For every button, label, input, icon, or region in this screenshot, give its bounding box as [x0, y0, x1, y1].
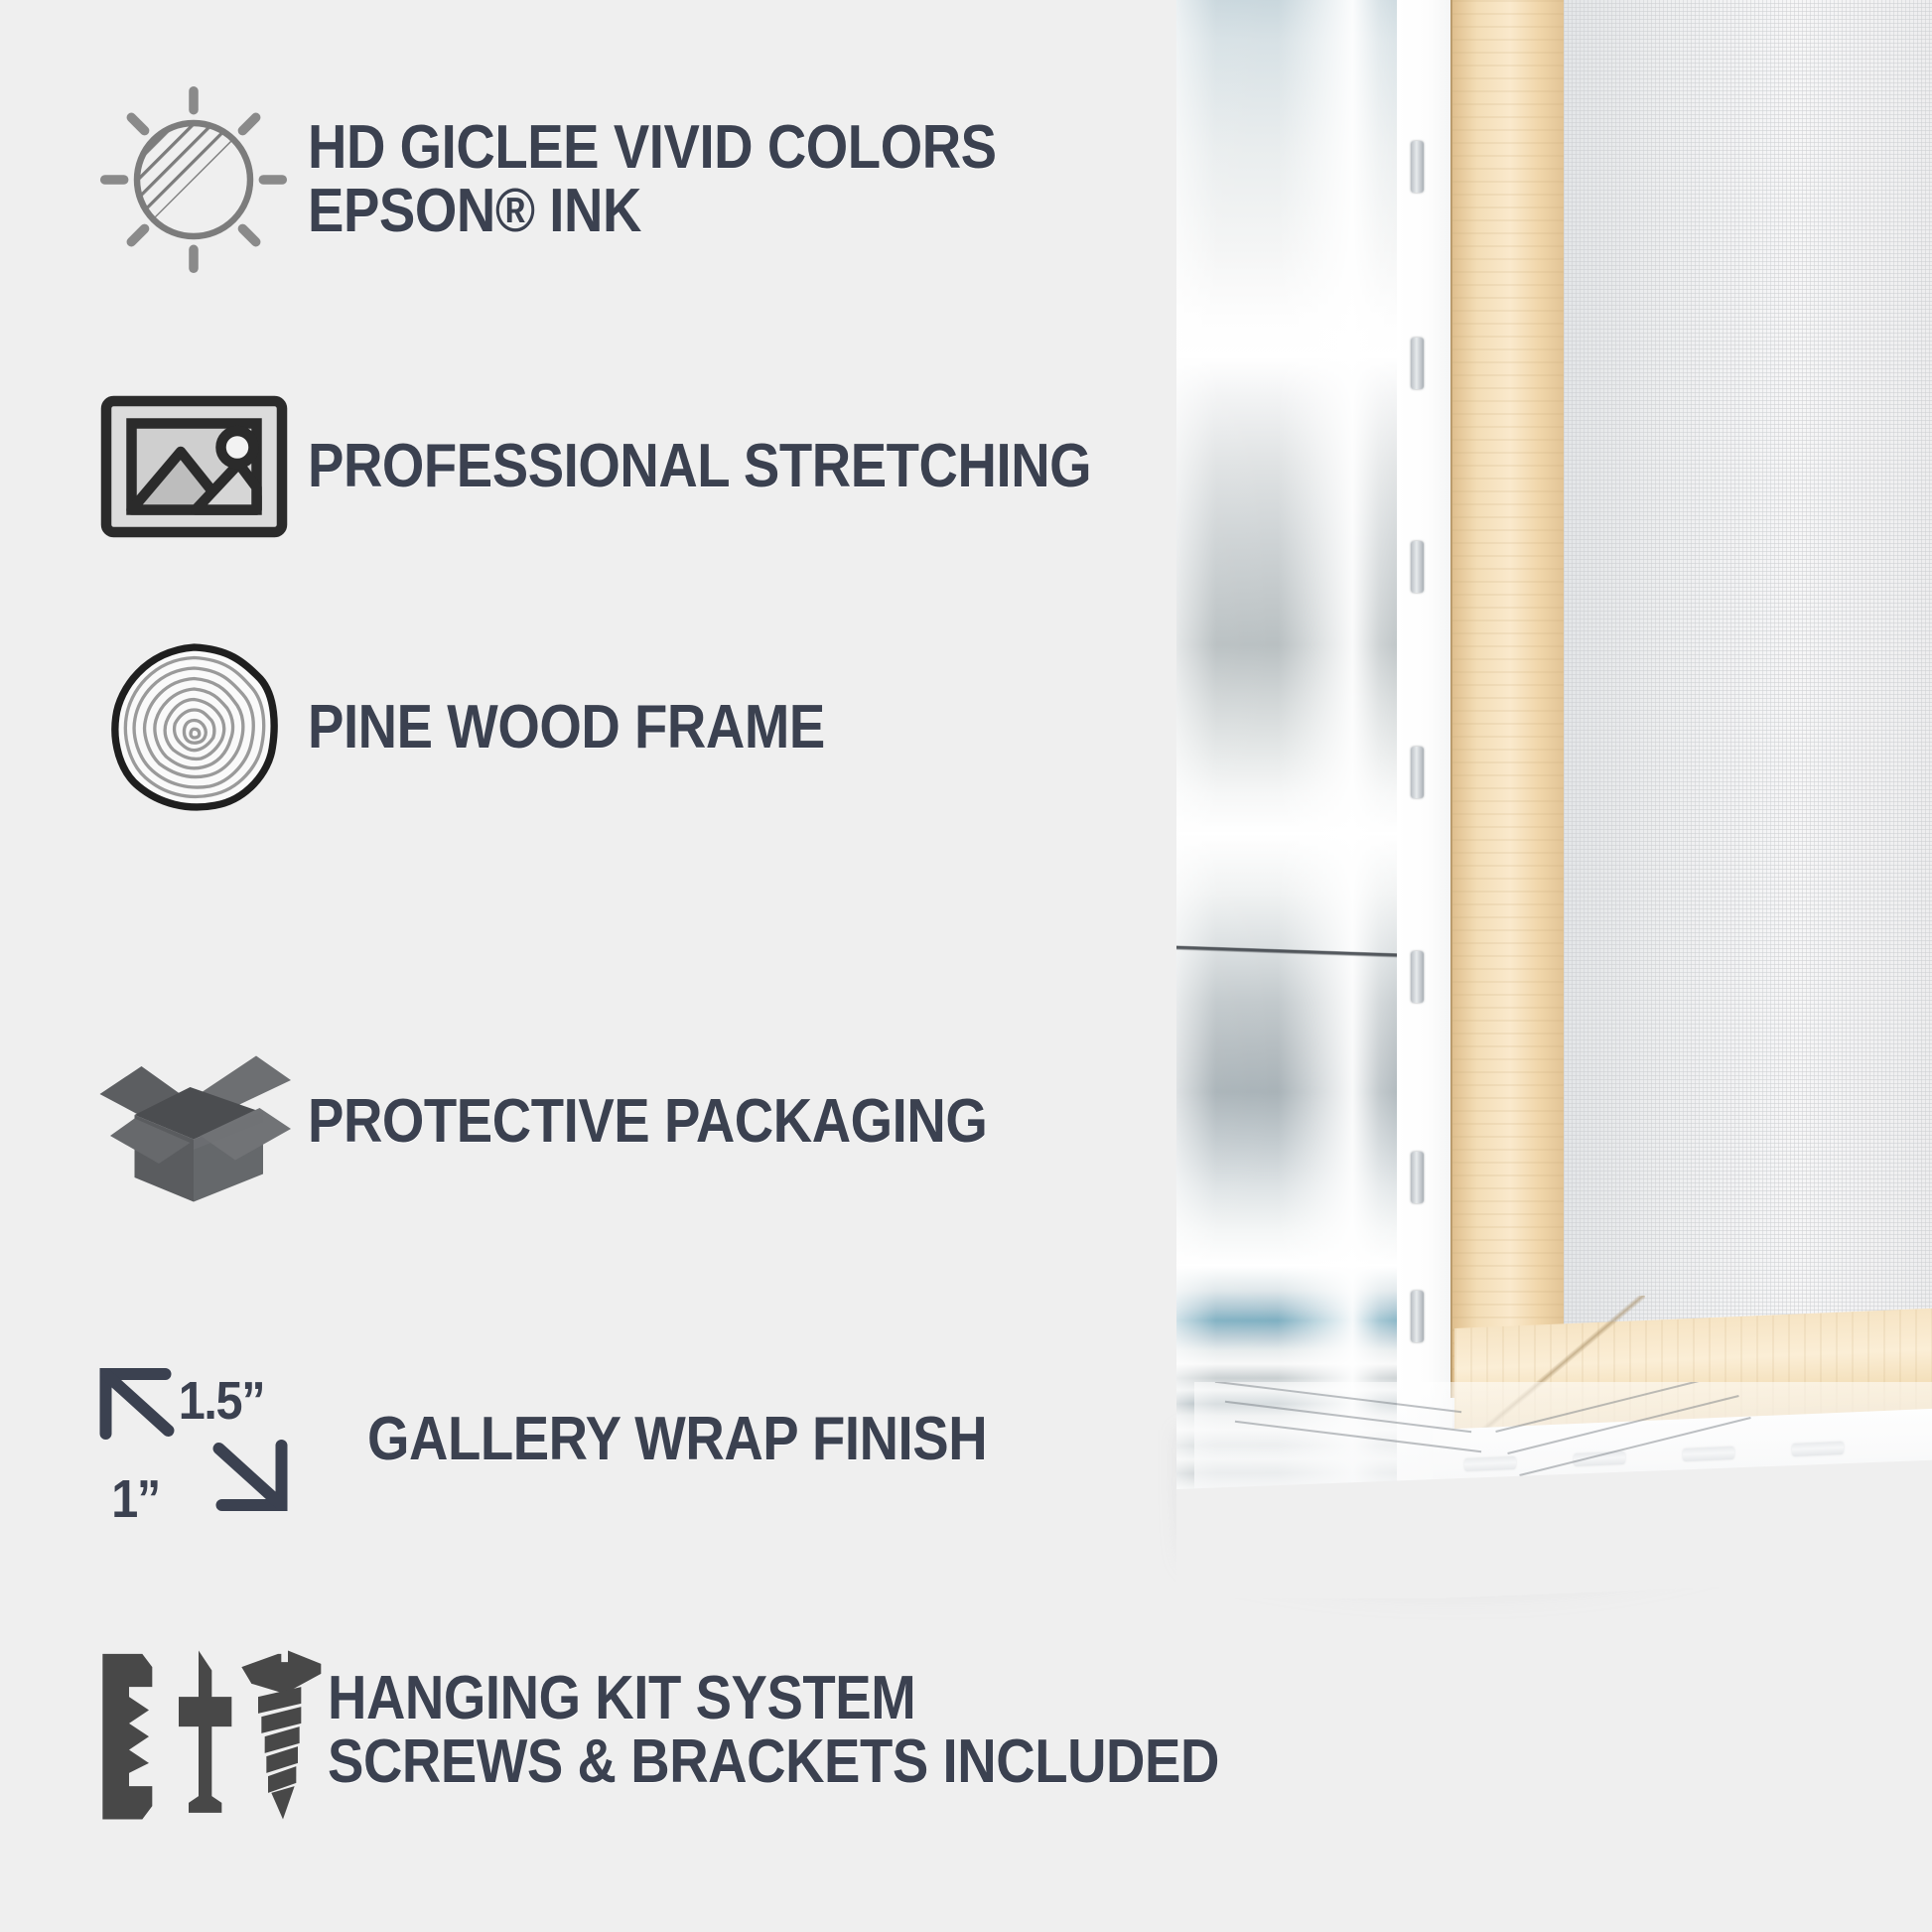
canvas-back-weave — [1564, 0, 1932, 1330]
product-photo — [1176, 0, 1932, 1598]
staple — [1411, 541, 1424, 593]
staple — [1411, 1152, 1424, 1203]
feature-pine-wood-frame-label: PINE WOOD FRAME — [308, 696, 825, 759]
staple — [1411, 747, 1424, 798]
feature-hd-giclee: HD GICLEE VIVID COLORS EPSON® INK — [79, 85, 1090, 274]
staple — [1411, 338, 1424, 389]
gallery-wrapped-printed-edge — [1176, 0, 1397, 1539]
feature-protective-packaging: PROTECTIVE PACKAGING — [79, 1033, 1080, 1211]
sun-hd-giclee-icon — [79, 85, 308, 274]
feature-hd-giclee-label: HD GICLEE VIVID COLORS EPSON® INK — [308, 116, 997, 243]
feature-hanging-kit-label: HANGING KIT SYSTEM SCREWS & BRACKETS INC… — [328, 1667, 1219, 1794]
feature-pine-wood-frame: PINE WOOD FRAME — [79, 640, 896, 814]
staple — [1411, 141, 1424, 193]
feature-professional-stretching-label: PROFESSIONAL STRETCHING — [308, 435, 1091, 498]
depth-lower-label: 1” — [111, 1468, 160, 1529]
depth-arrows-icon: 1.5” 1” — [79, 1350, 308, 1529]
staple — [1411, 951, 1424, 1003]
hanging-hardware-icon — [79, 1628, 328, 1832]
feature-professional-stretching: PROFESSIONAL STRETCHING — [79, 392, 1198, 541]
open-box-icon — [79, 1033, 308, 1211]
framed-picture-icon — [79, 392, 308, 541]
feature-protective-packaging-label: PROTECTIVE PACKAGING — [308, 1090, 987, 1154]
white-canvas-return — [1397, 0, 1452, 1549]
staple — [1411, 1291, 1424, 1342]
feature-hanging-kit: HANGING KIT SYSTEM SCREWS & BRACKETS INC… — [79, 1628, 1340, 1832]
infographic-canvas: HD GICLEE VIVID COLORS EPSON® INK PROFES… — [0, 0, 1932, 1932]
feature-gallery-wrap-finish-label: GALLERY WRAP FINISH — [367, 1408, 987, 1471]
depth-upper-label: 1.5” — [179, 1370, 264, 1431]
tree-rings-wood-icon — [79, 640, 308, 814]
feature-gallery-wrap-finish: 1.5” 1” GALLERY WRAP FINISH — [79, 1350, 1071, 1529]
pine-stretcher-bar-vertical — [1452, 0, 1564, 1398]
